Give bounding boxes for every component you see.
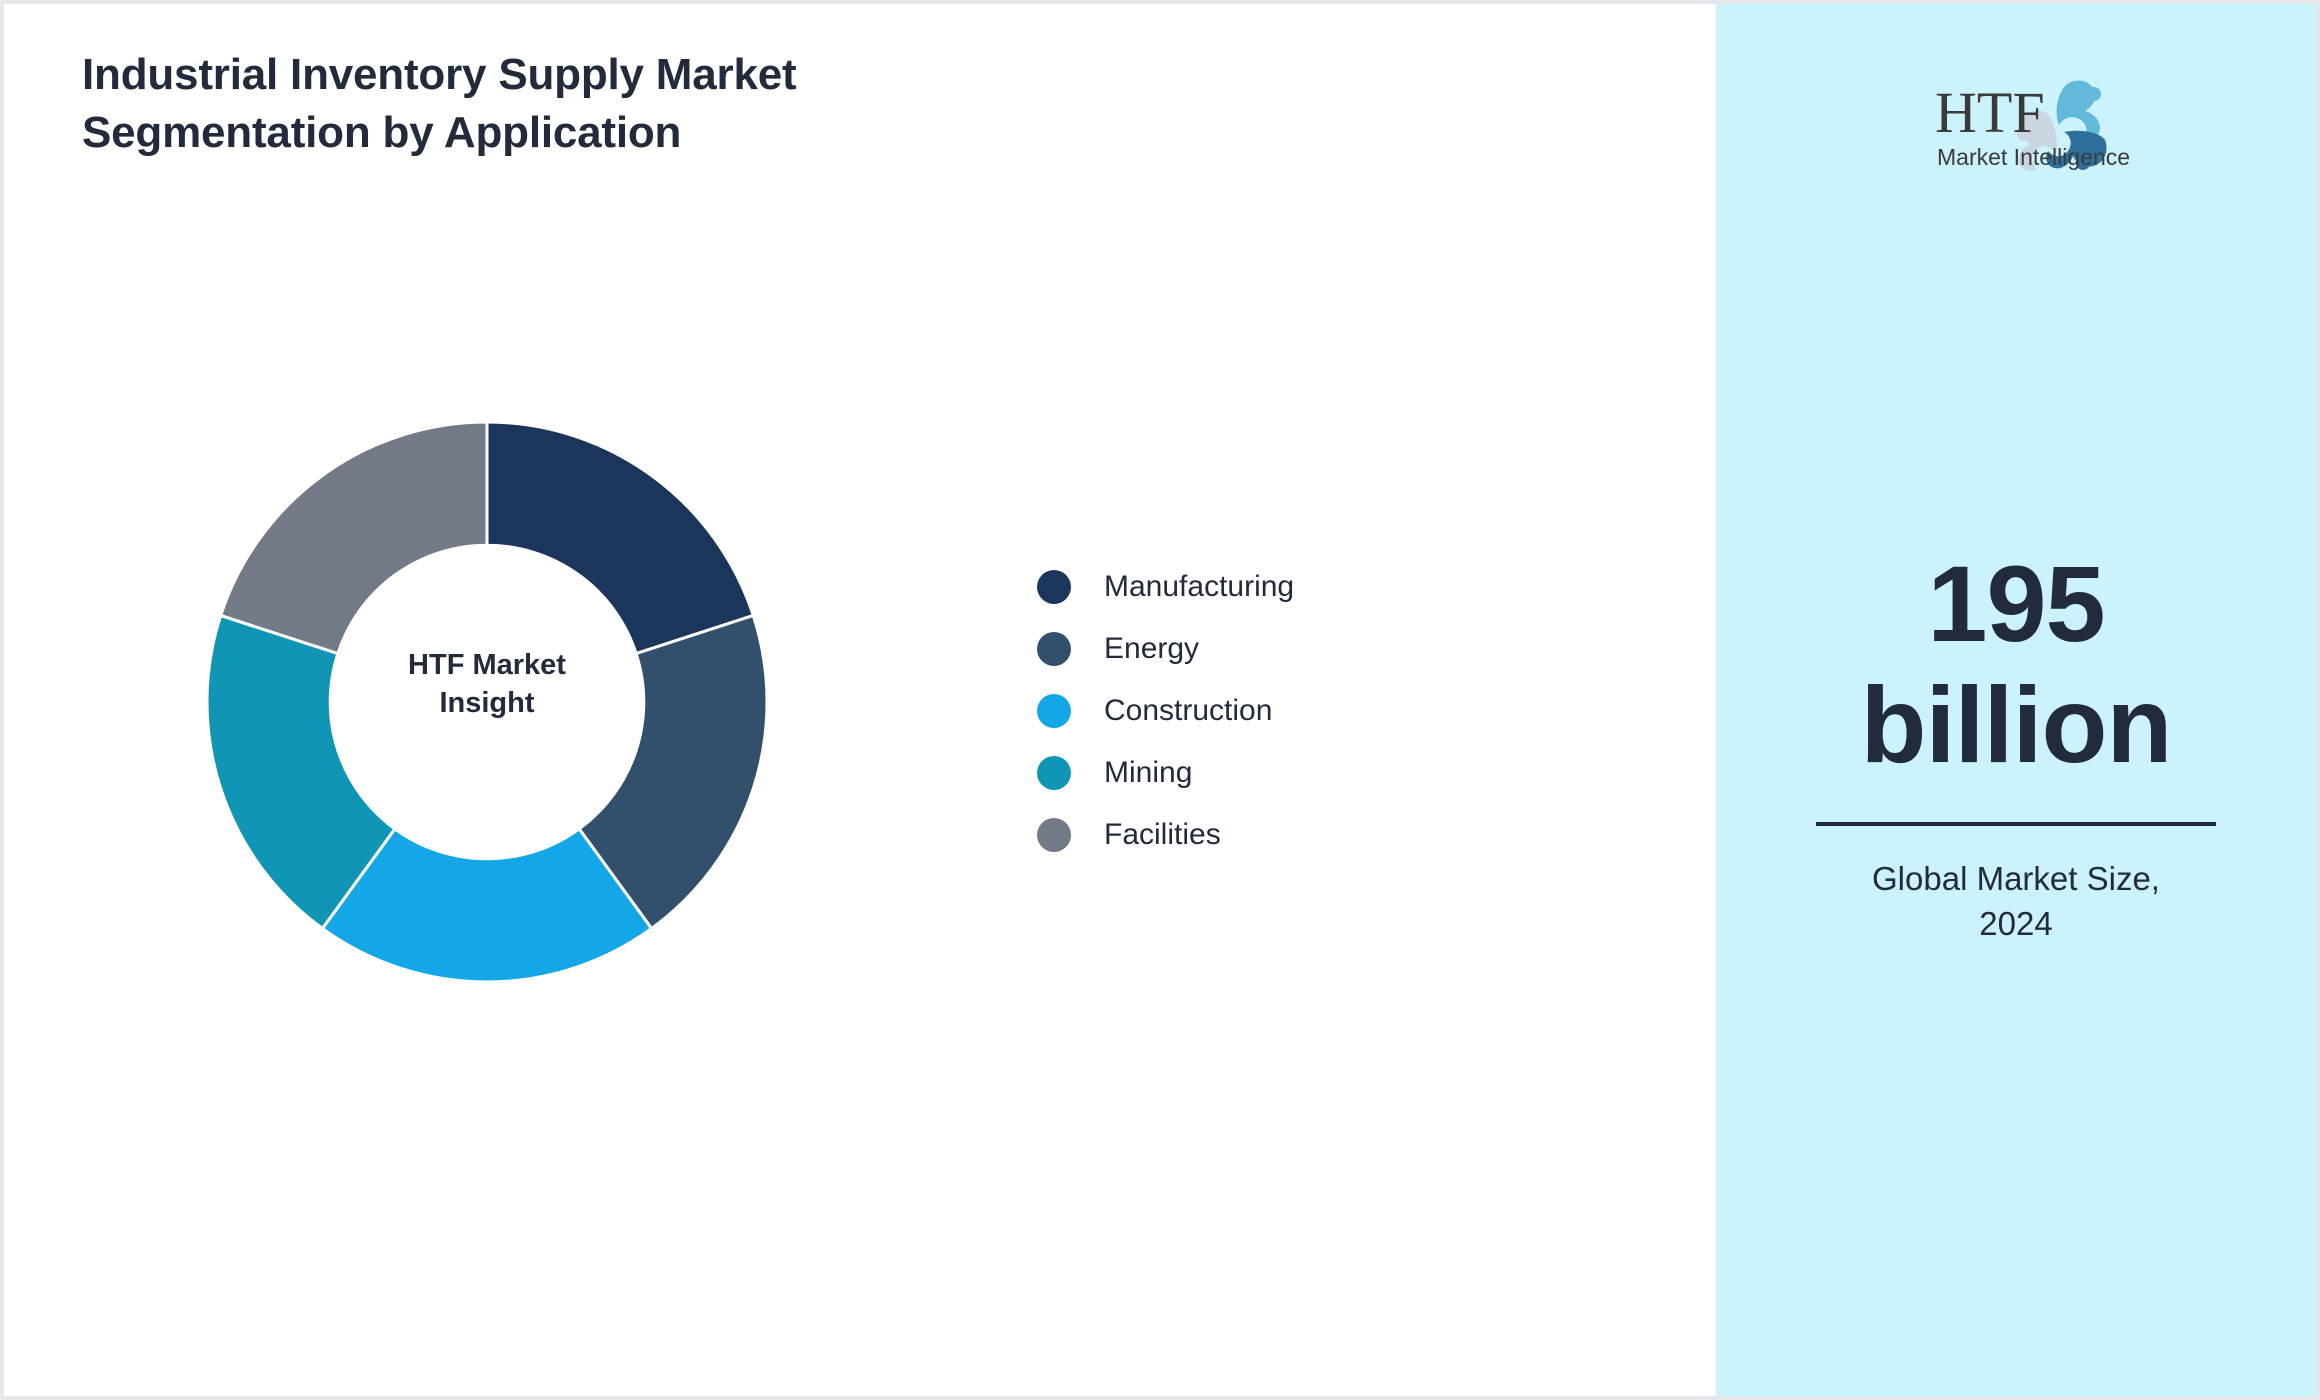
legend-item[interactable]: Energy — [1037, 618, 1294, 680]
page-title-line-2: Segmentation by Application — [82, 104, 1122, 162]
legend-item-label: Manufacturing — [1104, 570, 1294, 604]
stat-divider — [1816, 822, 2216, 826]
chart-panel: Industrial Inventory Supply Market Segme… — [4, 4, 1716, 1396]
stat-caption-line-2: 2024 — [1766, 901, 2266, 947]
market-size-stat: 195 billion Global Market Size, 2024 — [1766, 544, 2266, 947]
donut-hole — [329, 544, 645, 860]
stat-value-line-2: billion — [1766, 665, 2266, 786]
legend-item-label: Mining — [1104, 756, 1192, 790]
stat-caption: Global Market Size, 2024 — [1766, 856, 2266, 947]
page-title: Industrial Inventory Supply Market Segme… — [82, 46, 1122, 162]
page-title-line-1: Industrial Inventory Supply Market — [82, 46, 1122, 104]
legend-swatch-icon — [1037, 694, 1071, 728]
stat-caption-line-1: Global Market Size, — [1766, 856, 2266, 902]
stat-sidebar: HTF Market Intelligence 195 billion Glob… — [1716, 4, 2316, 1396]
legend-item-label: Construction — [1104, 694, 1272, 728]
logo-tagline: Market Intelligence — [1937, 144, 2130, 170]
stat-value-line-1: 195 — [1766, 544, 2266, 665]
chart-legend: ManufacturingEnergyConstructionMiningFac… — [1037, 556, 1294, 866]
legend-swatch-icon — [1037, 570, 1071, 604]
legend-swatch-icon — [1037, 818, 1071, 852]
legend-item[interactable]: Facilities — [1037, 804, 1294, 866]
htf-market-intelligence-logo: HTF Market Intelligence — [1891, 66, 2141, 176]
stat-value: 195 billion — [1766, 544, 2266, 786]
legend-item[interactable]: Mining — [1037, 742, 1294, 804]
infographic-page: Industrial Inventory Supply Market Segme… — [0, 0, 2320, 1400]
legend-item-label: Energy — [1104, 632, 1199, 666]
legend-item[interactable]: Manufacturing — [1037, 556, 1294, 618]
legend-swatch-icon — [1037, 632, 1071, 666]
legend-swatch-icon — [1037, 756, 1071, 790]
logo-svg: HTF Market Intelligence — [1891, 66, 2141, 176]
donut-chart-svg — [203, 418, 771, 986]
legend-item[interactable]: Construction — [1037, 680, 1294, 742]
donut-chart: HTF Market Insight — [203, 418, 771, 986]
logo-wordmark: HTF — [1935, 80, 2045, 145]
legend-item-label: Facilities — [1104, 818, 1221, 852]
